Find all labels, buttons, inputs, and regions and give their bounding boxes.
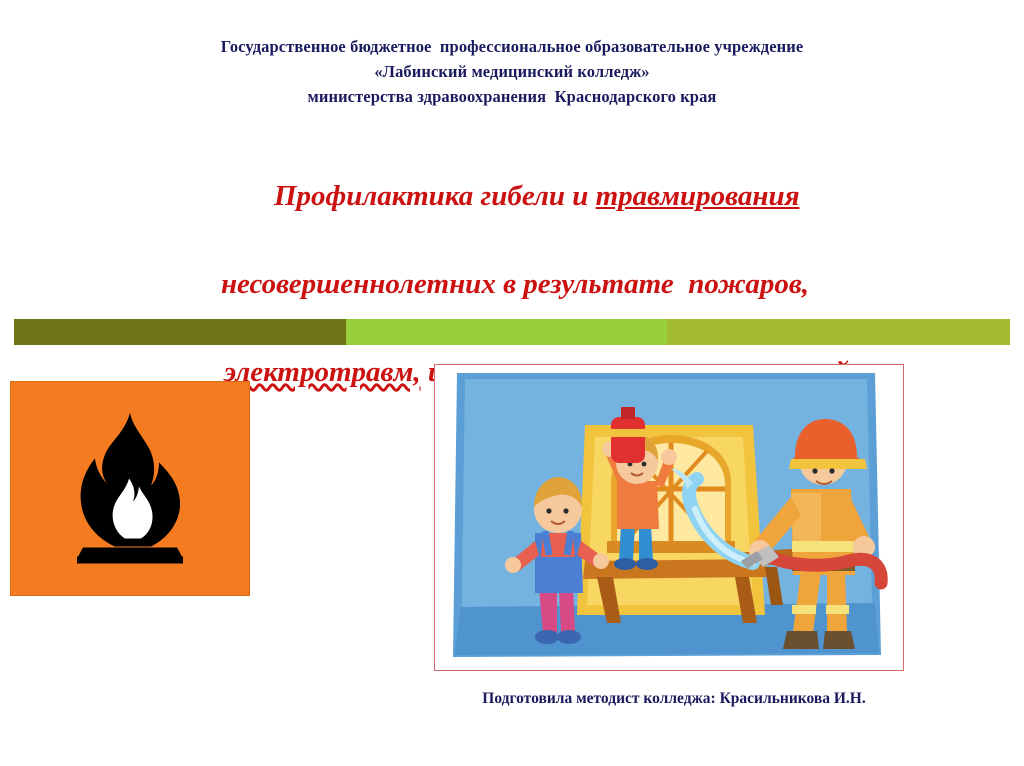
header-line-2: «Лабинский медицинский колледж»: [0, 59, 1024, 84]
title-line-1: Профилактика гибели и травмирования: [120, 130, 910, 262]
firefighters-rescuing-children-illustration: [434, 364, 904, 671]
divider-segment-dark-olive: [14, 319, 346, 345]
author-caption: Подготовила методист колледжа: Красильни…: [434, 690, 914, 708]
header-line-1: Государственное бюджетное профессиональн…: [0, 34, 1024, 59]
header-line-3: министерства здравоохранения Краснодарск…: [0, 84, 1024, 109]
decorative-divider-bar: [14, 319, 1010, 345]
title-line-1-plain: Профилактика гибели и: [274, 180, 596, 212]
presentation-slide: Государственное бюджетное профессиональн…: [0, 0, 1024, 766]
divider-segment-olive-green: [667, 319, 1010, 345]
flammable-hazard-pictogram: [10, 381, 250, 596]
title-line-2: несовершеннолетних в результате пожаров,: [120, 262, 910, 306]
title-line-3-underlined: электротравм,: [224, 356, 421, 388]
title-line-1-underlined: травмирования: [596, 180, 800, 212]
illustration-artwork: [435, 365, 903, 670]
divider-segment-light-green: [346, 319, 668, 345]
flame-icon: [55, 406, 205, 571]
organization-header: Государственное бюджетное профессиональн…: [0, 34, 1024, 109]
